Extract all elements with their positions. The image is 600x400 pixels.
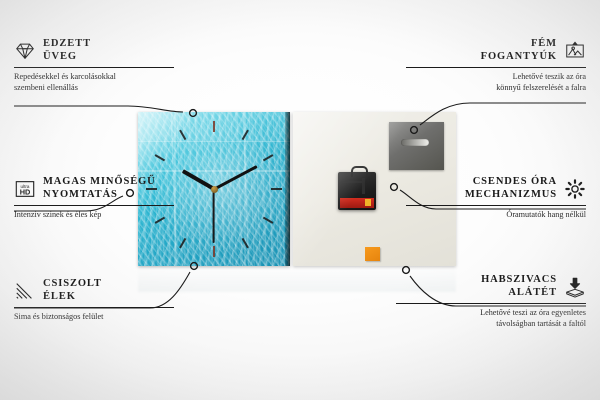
gear-icon: [564, 178, 586, 200]
polished-edge-icon: [14, 280, 36, 302]
callout-desc: Lehetővé teszik az óra könnyű felszerelé…: [406, 72, 586, 93]
callout-rule: [406, 67, 586, 68]
callout-desc: Lehetővé teszi az óra egyenletes távolsá…: [396, 308, 586, 329]
callout-desc: Repedésekkel és karcolásokkal szembeni e…: [14, 72, 174, 93]
callout-rule: [14, 205, 174, 206]
clock-mechanism: [338, 172, 376, 210]
callout-head: EDZETT ÜVEG: [14, 38, 174, 63]
callout-title: CSISZOLT ÉLEK: [43, 278, 102, 303]
callout-csendes-ora-mechanizmus: CSENDES ÓRA MECHANIZMUS Óramutatók hang …: [406, 176, 586, 221]
metal-hanger-plate: [389, 122, 444, 170]
callout-rule: [14, 307, 174, 308]
callout-head: CSENDES ÓRA MECHANIZMUS: [406, 176, 586, 201]
callout-title: EDZETT ÜVEG: [43, 38, 91, 63]
clock-tick: [242, 238, 249, 249]
clock-tick: [242, 130, 249, 141]
callout-edzett-uveg: EDZETT ÜVEG Repedésekkel és karcolásokka…: [14, 38, 174, 93]
callout-habszivacs-alatet: HABSZIVACS ALÁTÉT Lehetővé teszi az óra …: [396, 274, 586, 329]
hanger-slot: [401, 139, 429, 146]
callout-desc: Sima és biztonságos felület: [14, 312, 174, 323]
callout-desc: Intenzív színek és éles kép: [14, 210, 174, 221]
foam-spacer-pad: [365, 247, 380, 261]
mechanism-detail-a: [341, 181, 363, 183]
callout-title: CSENDES ÓRA MECHANIZMUS: [465, 176, 557, 201]
clock-tick: [213, 121, 215, 132]
callout-title: HABSZIVACS ALÁTÉT: [481, 274, 557, 299]
clock-tick: [213, 246, 215, 257]
clock-second-hand: [213, 189, 215, 243]
callout-title: MAGAS MINŐSÉGŰ NYOMTATÁS: [43, 176, 156, 201]
foam-pad-arrow-icon: [564, 276, 586, 298]
callout-fem-fogantyuk: FÉM FOGANTYÚK Lehetővé teszik az óra kön…: [406, 38, 586, 93]
callout-magas-minosegu-nyomtatas: ultra HD MAGAS MINŐSÉGŰ NYOMTATÁS Intenz…: [14, 176, 174, 221]
panel-right-edge: [285, 112, 290, 266]
clock-tick: [263, 217, 274, 224]
picture-hanger-icon: [564, 40, 586, 62]
svg-text:HD: HD: [20, 187, 31, 196]
callout-head: HABSZIVACS ALÁTÉT: [396, 274, 586, 299]
mechanism-detail-b: [362, 178, 365, 194]
clock-tick: [155, 154, 166, 161]
callout-csiszolt-elek: CSISZOLT ÉLEK Sima és biztonságos felüle…: [14, 278, 174, 323]
battery-label: [340, 198, 374, 208]
callout-head: FÉM FOGANTYÚK: [406, 38, 586, 63]
clock-tick: [179, 130, 186, 141]
product-infographic: EDZETT ÜVEG Repedésekkel és karcolásokka…: [0, 0, 600, 400]
mechanism-hook: [351, 166, 368, 177]
clock-tick: [271, 188, 282, 190]
clock-tick: [263, 154, 274, 161]
diamond-icon: [14, 40, 36, 62]
callout-rule: [14, 67, 174, 68]
callout-rule: [406, 205, 586, 206]
clock-center-cap: [211, 186, 218, 193]
ultra-hd-icon: ultra HD: [14, 178, 36, 200]
callout-title: FÉM FOGANTYÚK: [481, 38, 557, 63]
callout-desc: Óramutatók hang nélkül: [406, 210, 586, 221]
callout-rule: [396, 303, 586, 304]
clock-minute-hand: [213, 165, 257, 190]
clock-tick: [179, 238, 186, 249]
clock-hour-hand: [182, 169, 215, 190]
callout-head: ultra HD MAGAS MINŐSÉGŰ NYOMTATÁS: [14, 176, 174, 201]
callout-head: CSISZOLT ÉLEK: [14, 278, 174, 303]
